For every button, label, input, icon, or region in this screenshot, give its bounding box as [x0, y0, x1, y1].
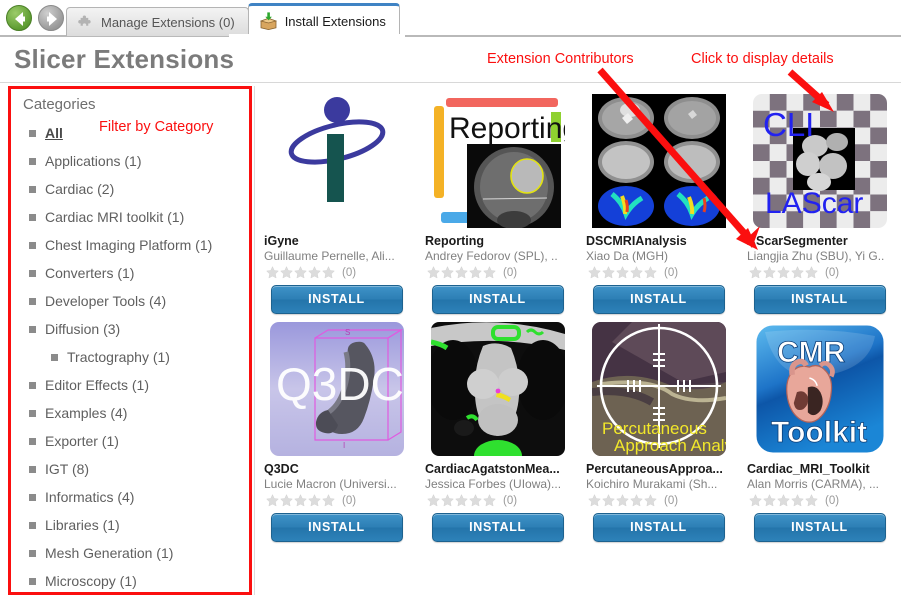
bullet-icon [29, 242, 36, 249]
category-label: Microscopy (1) [45, 573, 137, 589]
star-icon [630, 494, 643, 507]
tab-install-extensions-label: Install Extensions [285, 14, 386, 29]
category-item[interactable]: Informatics (4) [11, 483, 249, 511]
install-button[interactable]: INSTALL [593, 285, 725, 314]
star-rating[interactable] [588, 494, 657, 507]
extension-thumbnail[interactable]: CMRToolkit [753, 322, 887, 456]
category-item[interactable]: Libraries (1) [11, 511, 249, 539]
extension-thumbnail[interactable]: Reporting [431, 94, 565, 228]
extension-card[interactable]: SIQ3DCQ3DCLucie Macron (Universi...(0)IN… [256, 314, 417, 542]
star-rating[interactable] [749, 494, 818, 507]
annotation-filter-by-category: Filter by Category [99, 119, 213, 135]
svg-text:Q3DC: Q3DC [276, 358, 404, 410]
category-item[interactable]: Tractography (1) [11, 343, 249, 371]
category-item[interactable]: Microscopy (1) [11, 567, 249, 592]
category-label: All [45, 125, 63, 141]
rating-count: (0) [664, 267, 678, 279]
extension-name: Reporting [425, 234, 572, 248]
svg-text:CLI: CLI [763, 106, 814, 143]
extension-contributors: Guillaume Pernelle, Ali... [264, 249, 411, 263]
rating-count: (0) [825, 495, 839, 507]
tab-bar: Manage Extensions (0) Install Extensions [0, 0, 901, 37]
star-icon [280, 494, 293, 507]
bullet-icon [29, 578, 36, 585]
category-item[interactable]: Examples (4) [11, 399, 249, 427]
install-button[interactable]: INSTALL [754, 513, 886, 542]
bullet-icon [29, 550, 36, 557]
category-item[interactable]: Exporter (1) [11, 427, 249, 455]
star-icon [483, 266, 496, 279]
percutaneous-thumbnail: PercutaneousApproach Analysis [592, 322, 726, 456]
extension-contributors: Liangjia Zhu (SBU), Yi G.. [747, 249, 894, 263]
star-rating[interactable] [588, 266, 657, 279]
star-rating[interactable] [749, 266, 818, 279]
category-item[interactable]: Converters (1) [11, 259, 249, 287]
header-divider [0, 82, 901, 83]
ascar-thumbnail: CLILAScar [753, 94, 887, 228]
extension-rating[interactable]: (0) [588, 494, 733, 507]
svg-text:Reporting: Reporting [449, 112, 565, 145]
star-icon [322, 266, 335, 279]
category-label: IGT (8) [45, 461, 89, 477]
rating-count: (0) [342, 267, 356, 279]
annotation-click-to-display-details: Click to display details [691, 51, 834, 67]
extension-name: iGyne [264, 234, 411, 248]
star-icon [602, 266, 615, 279]
extension-card[interactable]: CLILAScarAScarSegmenterLiangjia Zhu (SBU… [739, 86, 900, 314]
category-label: Cardiac (2) [45, 181, 114, 197]
extension-card[interactable]: CardiacAgatstonMea...Jessica Forbes (UIo… [417, 314, 578, 542]
star-icon [805, 266, 818, 279]
extension-name: Cardiac_MRI_Toolkit [747, 462, 894, 476]
category-label: Examples (4) [45, 405, 127, 421]
extension-contributors: Alan Morris (CARMA), ... [747, 477, 894, 491]
bullet-icon [29, 522, 36, 529]
bullet-icon [29, 186, 36, 193]
star-icon [441, 266, 454, 279]
igyne-logo [270, 94, 404, 228]
annotation-extension-contributors: Extension Contributors [487, 51, 634, 67]
extension-card[interactable]: CMRToolkitCardiac_MRI_ToolkitAlan Morris… [739, 314, 900, 542]
extension-name: PercutaneousApproa... [586, 462, 733, 476]
star-icon [749, 494, 762, 507]
svg-text:CMR: CMR [777, 336, 846, 369]
category-item[interactable]: Mesh Generation (1) [11, 539, 249, 567]
star-icon [427, 494, 440, 507]
star-icon [294, 494, 307, 507]
back-arrow-icon[interactable] [6, 5, 32, 31]
star-rating[interactable] [427, 494, 496, 507]
tab-manage-extensions[interactable]: Manage Extensions (0) [66, 7, 249, 36]
extension-thumbnail[interactable]: CLILAScar [753, 94, 887, 228]
star-icon [441, 494, 454, 507]
category-item[interactable]: Diffusion (3) [11, 315, 249, 343]
star-icon [280, 266, 293, 279]
star-icon [763, 266, 776, 279]
category-label: Libraries (1) [45, 517, 120, 533]
categories-list: AllApplications (1)Cardiac (2)Cardiac MR… [11, 119, 249, 592]
star-icon [616, 494, 629, 507]
extension-card[interactable]: ReportingReportingAndrey Fedorov (SPL), … [417, 86, 578, 314]
category-label: Diffusion (3) [45, 321, 120, 337]
tab-list: Manage Extensions (0) Install Extensions [66, 3, 400, 36]
star-icon [266, 266, 279, 279]
extension-rating[interactable]: (0) [427, 494, 572, 507]
bullet-icon [29, 298, 36, 305]
extension-rating[interactable]: (0) [588, 266, 733, 279]
category-label: Informatics (4) [45, 489, 134, 505]
category-label: Converters (1) [45, 265, 134, 281]
star-icon [777, 494, 790, 507]
categories-panel: Categories AllApplications (1)Cardiac (2… [11, 89, 249, 592]
star-icon [749, 266, 762, 279]
extension-rating[interactable]: (0) [749, 494, 894, 507]
puzzle-piece-icon [77, 14, 94, 30]
bullet-icon [29, 466, 36, 473]
install-button[interactable]: INSTALL [593, 513, 725, 542]
install-button[interactable]: INSTALL [271, 285, 403, 314]
tab-manage-extensions-label: Manage Extensions (0) [101, 15, 235, 30]
install-button[interactable]: INSTALL [432, 285, 564, 314]
content-divider [254, 86, 255, 595]
extension-contributors: Jessica Forbes (UIowa)... [425, 477, 572, 491]
category-label: Editor Effects (1) [45, 377, 149, 393]
reporting-thumbnail: Reporting [431, 94, 565, 228]
extension-contributors: Lucie Macron (Universi... [264, 477, 411, 491]
bullet-icon [29, 410, 36, 417]
star-icon [602, 494, 615, 507]
extension-thumbnail[interactable] [592, 94, 726, 228]
bullet-icon [29, 382, 36, 389]
star-rating[interactable] [266, 494, 335, 507]
extension-card[interactable]: DSCMRIAnalysisXiao Da (MGH)(0)INSTALL [578, 86, 739, 314]
rating-count: (0) [825, 267, 839, 279]
extension-rating[interactable]: (0) [749, 266, 894, 279]
star-icon [266, 494, 279, 507]
category-label: Mesh Generation (1) [45, 545, 173, 561]
navigation-buttons [6, 5, 64, 31]
star-icon [644, 266, 657, 279]
star-icon [455, 494, 468, 507]
rating-count: (0) [342, 495, 356, 507]
bullet-icon [29, 214, 36, 221]
extension-rating[interactable]: (0) [427, 266, 572, 279]
extension-thumbnail[interactable]: PercutaneousApproach Analysis [592, 322, 726, 456]
extensions-content: iGyneGuillaume Pernelle, Ali...(0)INSTAL… [256, 86, 901, 595]
bullet-icon [29, 494, 36, 501]
category-item[interactable]: Applications (1) [11, 147, 249, 175]
star-icon [588, 266, 601, 279]
star-icon [588, 494, 601, 507]
categories-title: Categories [23, 96, 249, 113]
category-label: Developer Tools (4) [45, 293, 166, 309]
page-title: Slicer Extensions [14, 44, 234, 75]
star-rating[interactable] [266, 266, 335, 279]
category-item[interactable]: Cardiac MRI toolkit (1) [11, 203, 249, 231]
star-icon [308, 266, 321, 279]
star-icon [469, 494, 482, 507]
star-icon [630, 266, 643, 279]
extension-card[interactable]: iGyneGuillaume Pernelle, Ali...(0)INSTAL… [256, 86, 417, 314]
category-label: Cardiac MRI toolkit (1) [45, 209, 184, 225]
rating-count: (0) [503, 267, 517, 279]
extension-contributors: Andrey Fedorov (SPL), .. [425, 249, 572, 263]
install-button[interactable]: INSTALL [432, 513, 564, 542]
rating-count: (0) [503, 495, 517, 507]
cmr-toolkit-thumbnail: CMRToolkit [753, 322, 887, 456]
star-icon [469, 266, 482, 279]
extension-rating[interactable]: (0) [266, 494, 411, 507]
bullet-icon [29, 326, 36, 333]
category-label: Exporter (1) [45, 433, 119, 449]
category-item[interactable]: Cardiac (2) [11, 175, 249, 203]
active-tab-base-mask [229, 34, 405, 38]
bullet-icon [51, 354, 58, 361]
svg-text:Toolkit: Toolkit [771, 416, 867, 449]
star-icon [427, 266, 440, 279]
extension-thumbnail[interactable] [431, 322, 565, 456]
svg-text:I: I [343, 441, 345, 450]
bullet-icon [29, 158, 36, 165]
category-label: Applications (1) [45, 153, 142, 169]
extension-contributors: Koichiro Murakami (Sh... [586, 477, 733, 491]
star-icon [805, 494, 818, 507]
bullet-icon [29, 270, 36, 277]
star-icon [791, 266, 804, 279]
star-icon [763, 494, 776, 507]
star-icon [777, 266, 790, 279]
category-item[interactable]: IGT (8) [11, 455, 249, 483]
download-box-icon [259, 12, 278, 30]
svg-text:Approach Analysis: Approach Analysis [614, 436, 726, 455]
category-item[interactable]: Developer Tools (4) [11, 287, 249, 315]
extension-name: Q3DC [264, 462, 411, 476]
extension-contributors: Xiao Da (MGH) [586, 249, 733, 263]
cardiac-agatston-thumbnail [431, 322, 565, 456]
install-button[interactable]: INSTALL [754, 285, 886, 314]
bullet-icon [29, 438, 36, 445]
install-button[interactable]: INSTALL [271, 513, 403, 542]
category-label: Tractography (1) [67, 349, 170, 365]
category-item[interactable]: Editor Effects (1) [11, 371, 249, 399]
star-icon [791, 494, 804, 507]
extension-rating[interactable]: (0) [266, 266, 411, 279]
extensions-manager-window: Manage Extensions (0) Install Extensions… [0, 0, 901, 595]
category-label: Chest Imaging Platform (1) [45, 237, 212, 253]
star-icon [616, 266, 629, 279]
star-icon [455, 266, 468, 279]
star-icon [294, 266, 307, 279]
extension-thumbnail[interactable] [270, 94, 404, 228]
extension-name: DSCMRIAnalysis [586, 234, 733, 248]
extension-name: AScarSegmenter [747, 234, 894, 248]
extension-thumbnail[interactable]: SIQ3DC [270, 322, 404, 456]
star-rating[interactable] [427, 266, 496, 279]
category-item[interactable]: Chest Imaging Platform (1) [11, 231, 249, 259]
tab-install-extensions[interactable]: Install Extensions [248, 3, 400, 36]
forward-arrow-icon[interactable] [38, 5, 64, 31]
bullet-icon [29, 130, 36, 137]
star-icon [308, 494, 321, 507]
q3dc-thumbnail: SIQ3DC [270, 322, 404, 456]
extensions-grid: iGyneGuillaume Pernelle, Ali...(0)INSTAL… [256, 86, 901, 542]
rating-count: (0) [664, 495, 678, 507]
svg-text:S: S [345, 328, 350, 337]
dscmri-thumbnail [592, 94, 726, 228]
svg-text:LAScar: LAScar [765, 187, 863, 220]
star-icon [644, 494, 657, 507]
extension-name: CardiacAgatstonMea... [425, 462, 572, 476]
star-icon [483, 494, 496, 507]
extension-card[interactable]: PercutaneousApproach AnalysisPercutaneou… [578, 314, 739, 542]
star-icon [322, 494, 335, 507]
